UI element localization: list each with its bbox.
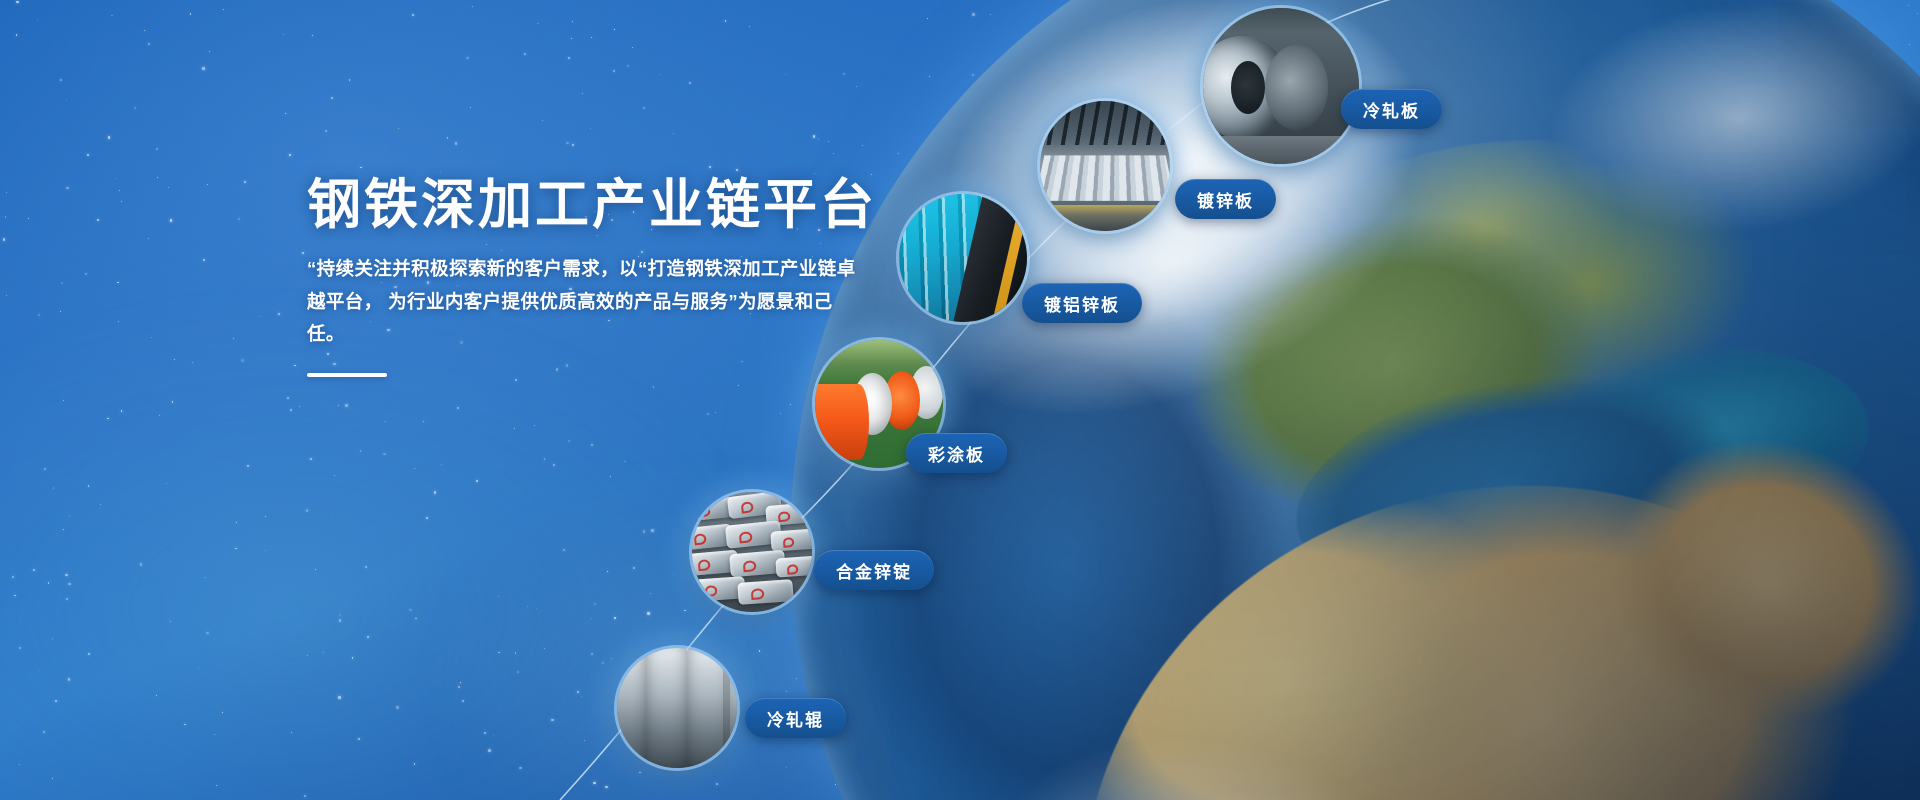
page-subtitle: “持续关注并积极探索新的客户需求，以“打造钢铁深加工产业链卓越平台， 为行业内客… <box>307 253 867 350</box>
coil-orange-front <box>815 384 869 461</box>
starfield <box>0 0 1920 800</box>
mediterranean-sea <box>1274 302 1889 646</box>
product-label-alu-zinc-plate[interactable]: 镀铝锌板 <box>1022 283 1142 323</box>
product-label-zinc-alloy-ingot[interactable]: 合金锌锭 <box>814 550 934 590</box>
europe-landmass <box>1156 94 1823 589</box>
africa-landmass <box>1000 400 1920 800</box>
factory-floor <box>1203 136 1359 164</box>
steel-coils-photo <box>1203 8 1359 164</box>
product-chain-connector <box>0 0 1920 800</box>
product-thumb-cold-rolled-plate[interactable] <box>1203 8 1359 164</box>
product-label-cold-rolling-roller[interactable]: 冷轧辊 <box>745 698 846 738</box>
cloud-band-east <box>1461 0 1920 303</box>
page-title: 钢铁深加工产业链平台 <box>307 175 927 235</box>
product-thumb-alu-zinc-plate[interactable] <box>899 194 1027 322</box>
warehouse-floor <box>1040 205 1170 231</box>
title-divider <box>307 373 387 377</box>
product-thumb-galvanized-plate[interactable] <box>1040 101 1170 231</box>
product-label-galvanized-plate[interactable]: 镀锌板 <box>1175 179 1276 219</box>
zinc-ingots-photo <box>692 492 812 612</box>
product-label-cold-rolled-plate[interactable]: 冷轧板 <box>1341 89 1442 129</box>
product-thumb-zinc-alloy-ingot[interactable] <box>692 492 812 612</box>
product-label-color-coated-plate[interactable]: 彩涂板 <box>906 433 1007 473</box>
galvanized-warehouse-photo <box>1040 101 1170 231</box>
product-thumb-cold-rolling-roller[interactable] <box>617 648 737 768</box>
arabia-landmass <box>1535 356 1920 800</box>
ingot-stack <box>692 492 812 612</box>
coil-core <box>1231 61 1265 114</box>
chrome-rollers-photo <box>617 648 737 768</box>
hero-banner: 钢铁深加工产业链平台 “持续关注并积极探索新的客户需求，以“打造钢铁深加工产业链… <box>0 0 1920 800</box>
aluzinc-sheets-photo <box>899 194 1027 322</box>
cloud-band-south <box>887 642 1537 800</box>
subtitle-line-2: 为行业内客户提供优质高效的产品与服务”为愿景和己任。 <box>307 291 833 344</box>
